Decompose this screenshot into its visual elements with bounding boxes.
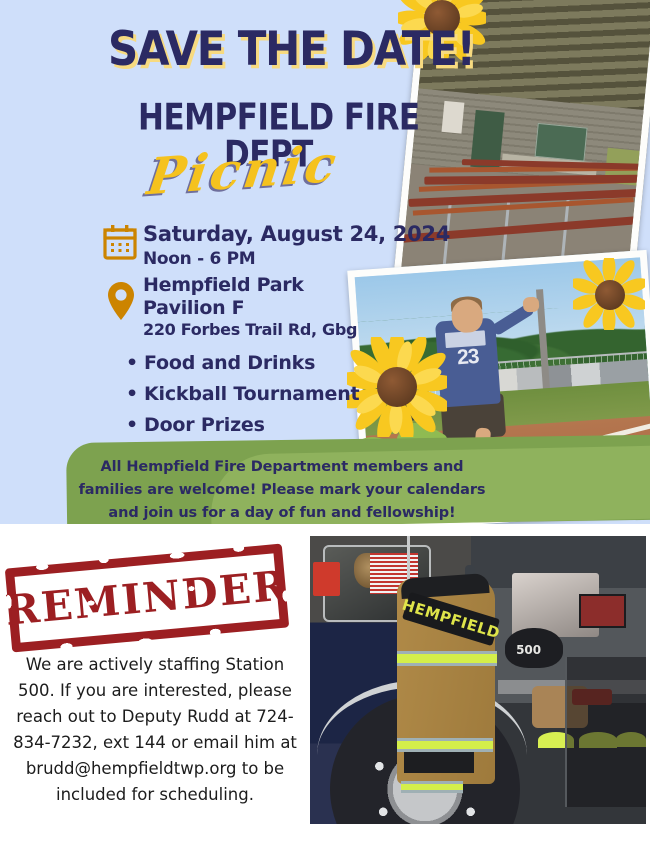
- turnout-coat-hem: [404, 749, 474, 773]
- org-name-line-1: HEMPFIELD FIRE: [138, 100, 420, 137]
- helmet-number: 500: [512, 640, 546, 660]
- list-item: Kickball Tournament: [126, 379, 359, 410]
- sunflower-icon: [347, 337, 447, 437]
- event-pavilion: Pavilion F: [143, 297, 244, 319]
- kickball-player-hand: [522, 297, 539, 313]
- calendar-icon: [103, 224, 137, 265]
- event-features-list: Food and Drinks Kickball Tournament Door…: [126, 348, 359, 440]
- staffing-message: We are actively staffing Station 500. If…: [10, 652, 300, 808]
- event-location-block: Hempfield Park Pavilion F 220 Forbes Tra…: [143, 274, 357, 340]
- welcome-message: All Hempfield Fire Department members an…: [72, 456, 492, 524]
- sunflower-icon: [573, 258, 645, 330]
- coat-reflective-stripe: [397, 738, 493, 752]
- cab-net-screen: [565, 657, 646, 807]
- turnout-gear-photo: 500 HEMPFIELD: [310, 536, 646, 824]
- picnic-flyer-panel: 23: [0, 0, 650, 524]
- event-date-block: Saturday, August 24, 2024 Noon - 6 PM: [143, 222, 450, 269]
- cab-display-screen: [579, 594, 626, 629]
- coat-reflective-stripe: [397, 651, 497, 666]
- reminder-stamp-label: REMINDER: [5, 544, 289, 653]
- map-pin-icon: [106, 281, 136, 326]
- coat-reflective-stripe: [401, 781, 463, 793]
- picnic-script-word: Picnic: [144, 138, 341, 202]
- truck-red-equipment: [313, 562, 340, 597]
- sunflower-center: [595, 280, 625, 310]
- pavilion-sign: [535, 122, 588, 161]
- list-item: Door Prizes: [126, 410, 359, 441]
- event-time: Noon - 6 PM: [143, 249, 450, 269]
- kickball-jersey-number: 23: [446, 345, 490, 369]
- page-title: SAVE THE DATE!: [108, 26, 475, 73]
- event-date: Saturday, August 24, 2024: [143, 222, 450, 246]
- sunflower-center: [377, 367, 417, 407]
- reminder-panel: REMINDER We are actively staffing Statio…: [0, 524, 650, 841]
- list-item: Food and Drinks: [126, 348, 359, 379]
- event-venue: Hempfield Park: [143, 274, 304, 296]
- pavilion-wall-box: [442, 101, 465, 134]
- event-address: 220 Forbes Trail Rd, Gbg: [143, 320, 357, 340]
- reminder-stamp: REMINDER: [5, 544, 289, 653]
